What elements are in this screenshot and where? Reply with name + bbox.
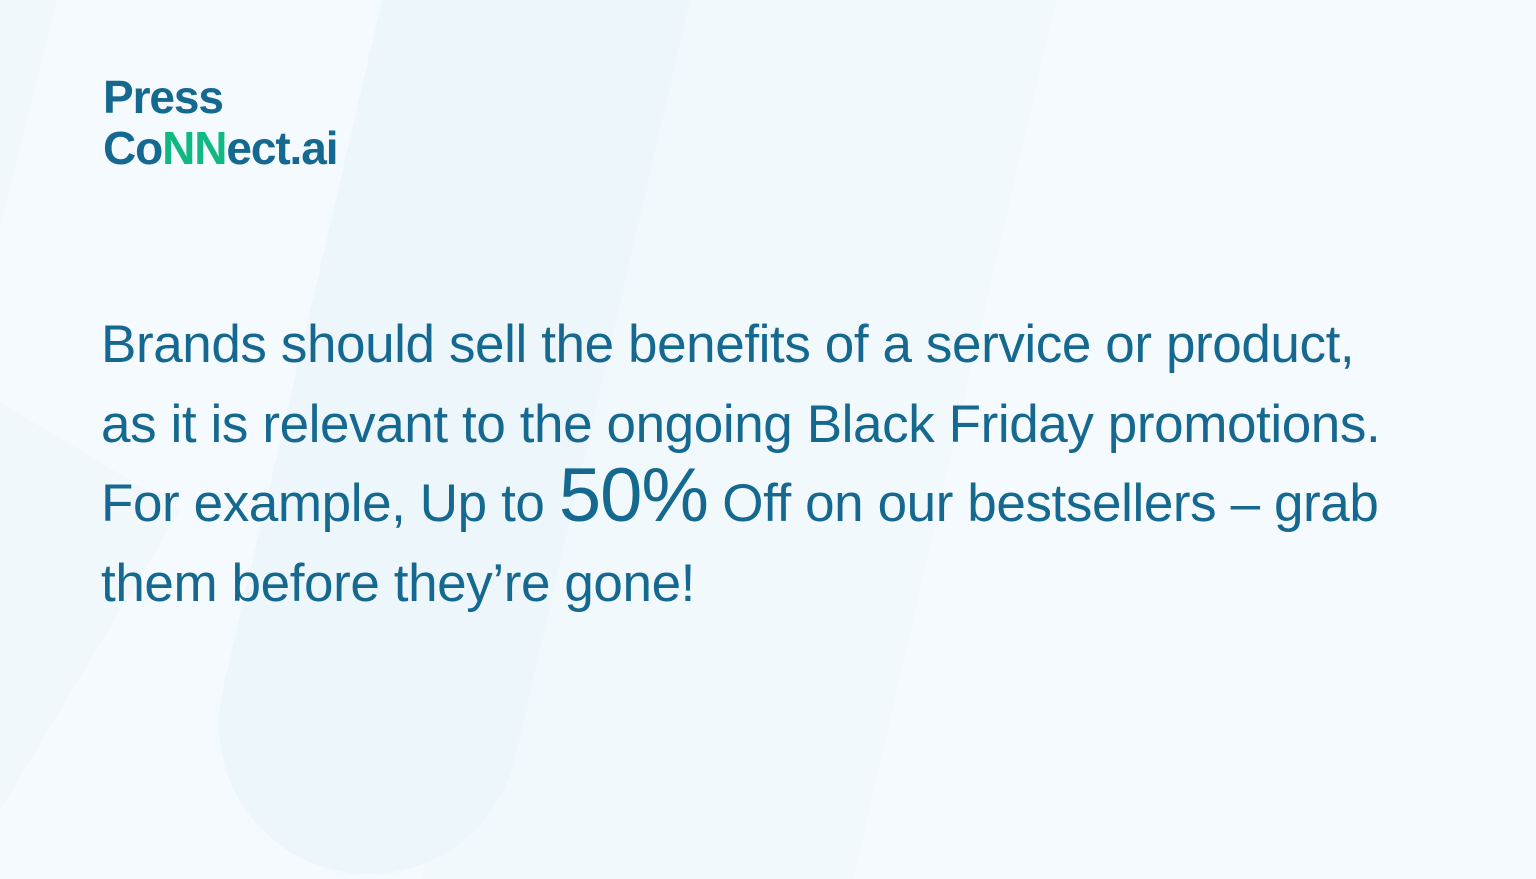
logo-text-ect-ai: ect.ai [226,122,337,174]
logo-line-connect: CoNNect.ai [103,125,337,171]
quote-slide: Press CoNNect.ai Brands should sell the … [0,0,1536,879]
background-band-edge [0,0,94,879]
headline-text: Brands should sell the benefits of a ser… [101,305,1421,623]
brand-logo: Press CoNNect.ai [103,74,337,171]
logo-line-press: Press [103,74,337,120]
headline-emphasis-discount: 50% [559,453,708,538]
logo-text-co: Co [103,122,162,174]
logo-accent-nn: NN [162,122,226,174]
